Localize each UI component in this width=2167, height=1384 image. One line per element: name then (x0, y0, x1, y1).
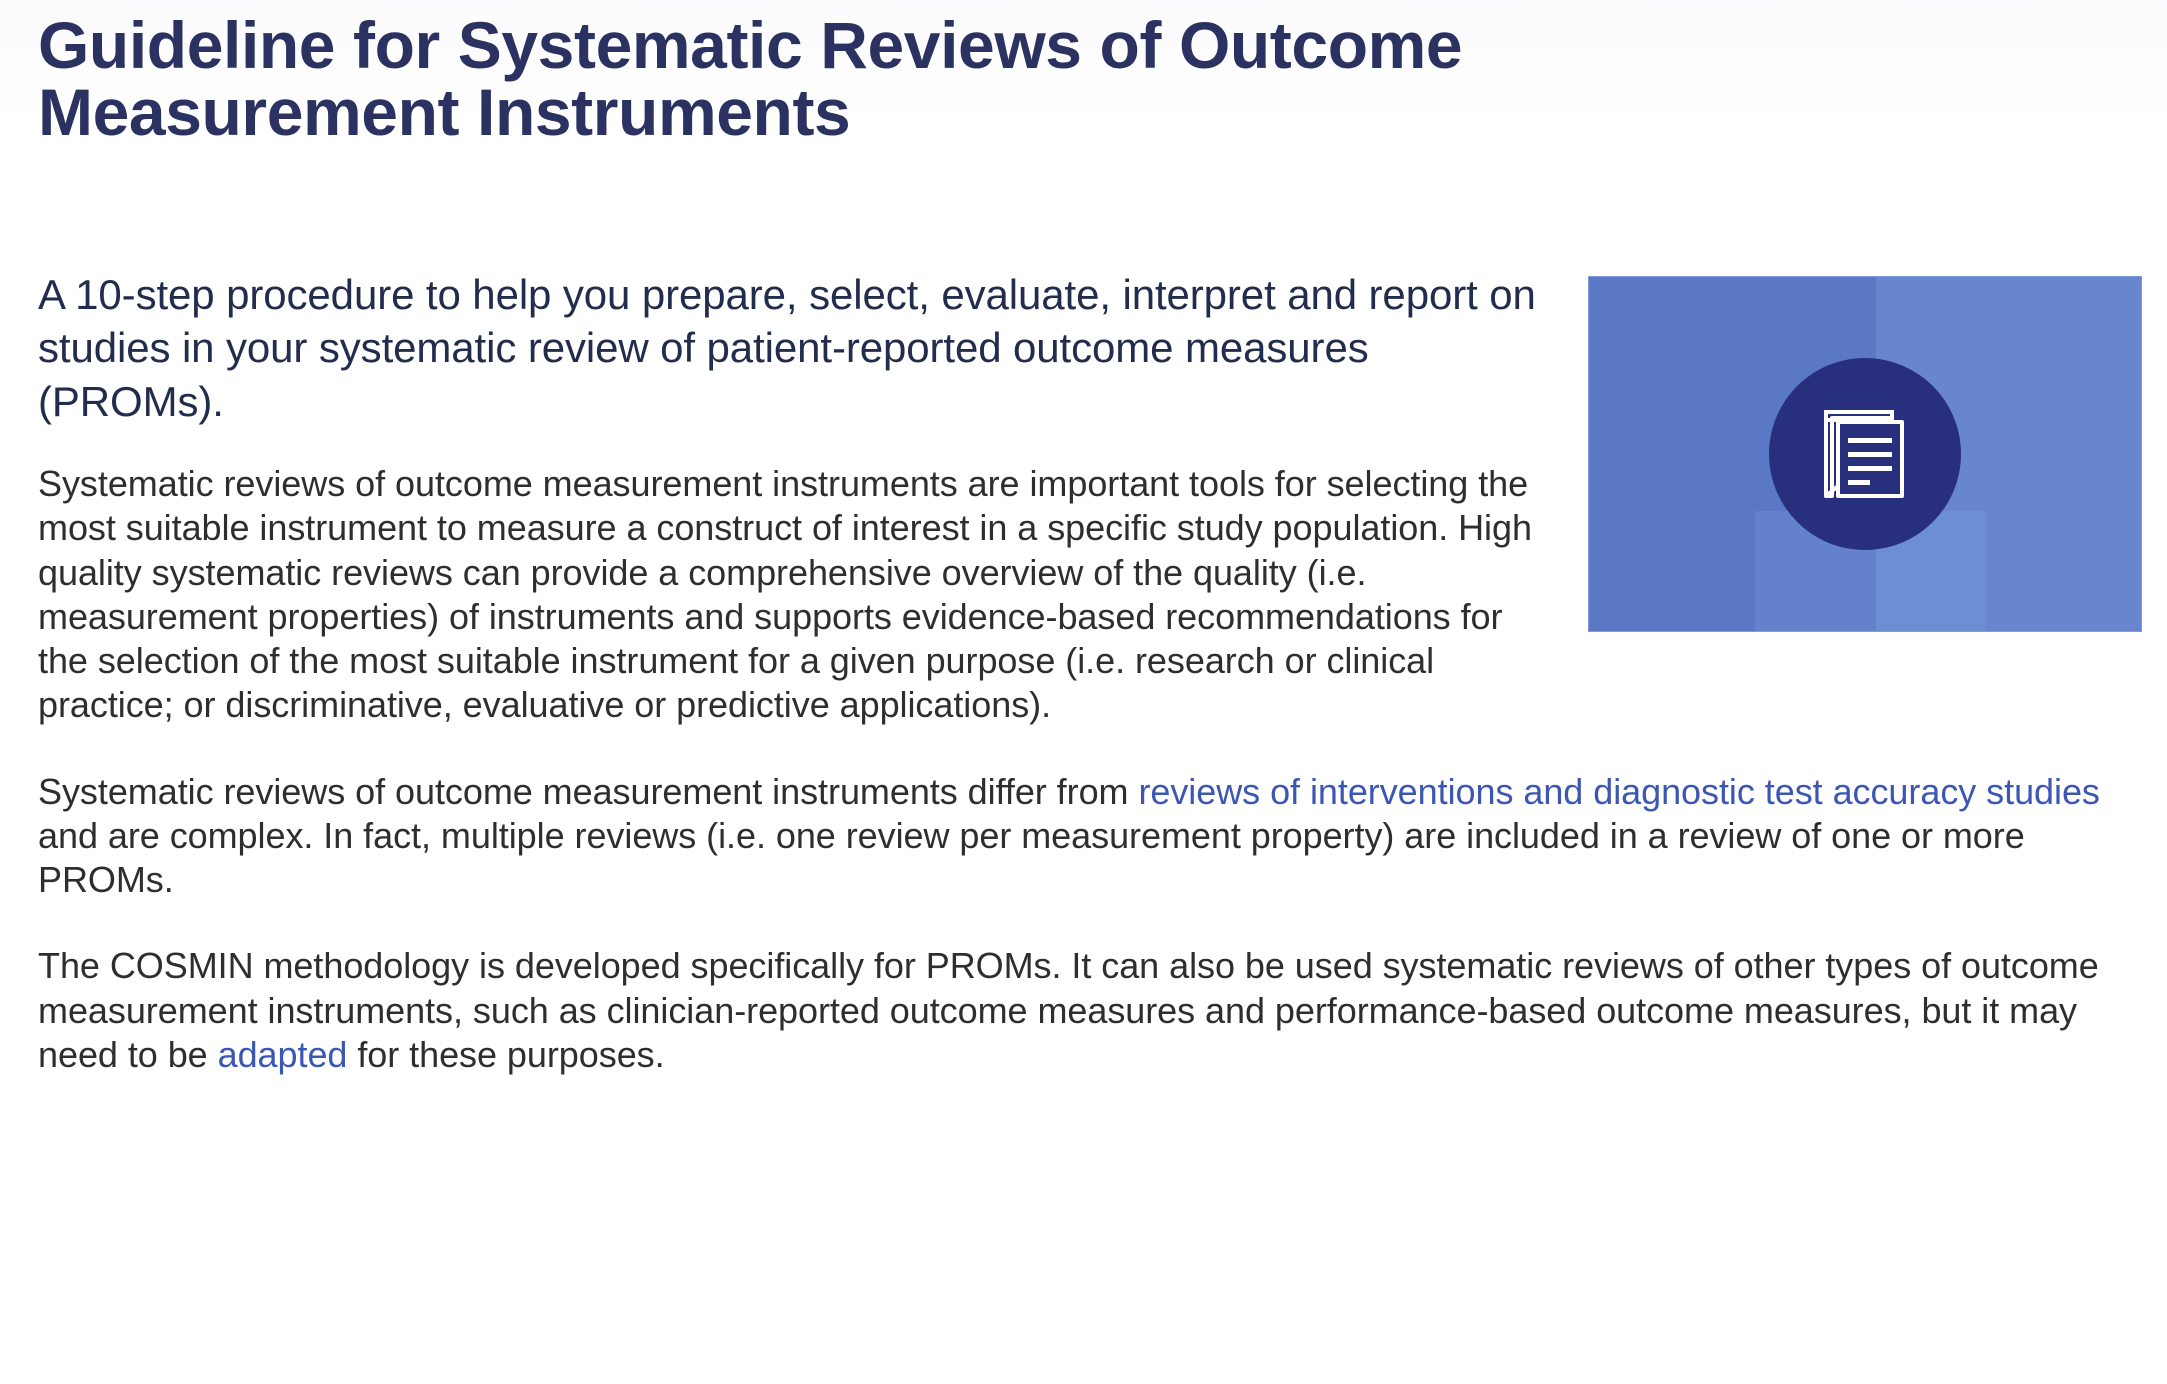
paragraph-differs: Systematic reviews of outcome measuremen… (38, 770, 2130, 903)
link-reviews-of-interventions[interactable]: reviews of interventions and diagnostic … (1138, 771, 2099, 812)
article-content: A 10-step procedure to help you prepare,… (38, 268, 2130, 1119)
page-title: Guideline for Systematic Reviews of Outc… (38, 12, 1868, 147)
image-wrap-spacer (1550, 268, 2130, 648)
link-adapted[interactable]: adapted (218, 1034, 348, 1075)
paragraph-cosmin-text-after: for these purposes. (347, 1034, 664, 1075)
paragraph-cosmin-methodology: The COSMIN methodology is developed spec… (38, 944, 2130, 1077)
lead-paragraph: A 10-step procedure to help you prepare,… (38, 268, 1558, 428)
paragraph-differs-text-after: and are complex. In fact, multiple revie… (38, 815, 2025, 900)
article-page: Guideline for Systematic Reviews of Outc… (0, 0, 2167, 1384)
paragraph-differs-text-before: Systematic reviews of outcome measuremen… (38, 771, 1138, 812)
